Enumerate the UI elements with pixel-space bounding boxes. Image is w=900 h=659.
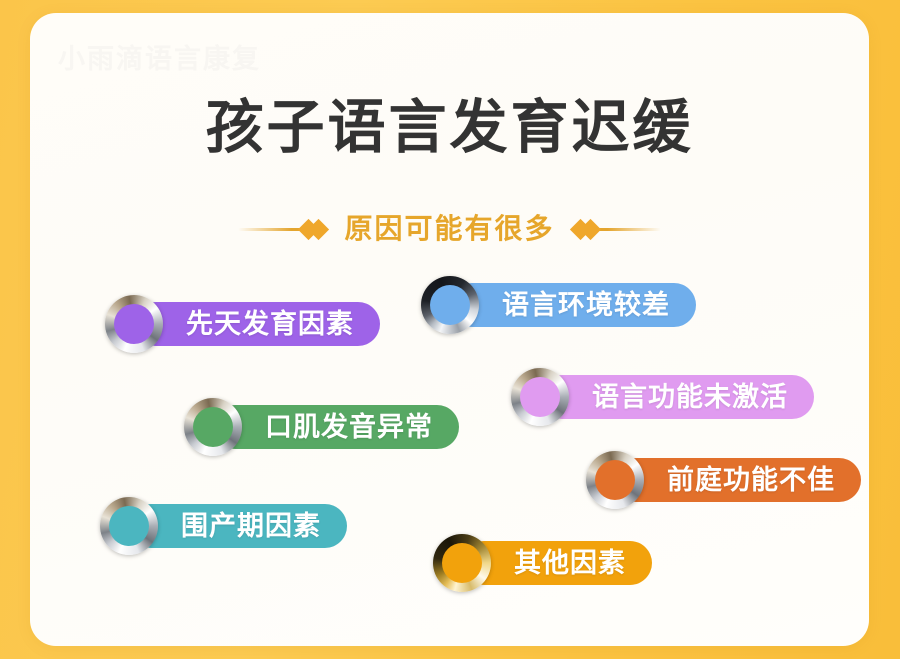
page-title: 孩子语言发育迟缓 — [30, 98, 869, 156]
reason-pill-language-not-activated[interactable]: 语言功能未激活 — [540, 375, 814, 419]
ring-icon — [95, 492, 163, 560]
watermark-text: 小雨滴语言康复 — [58, 39, 268, 81]
reason-label: 前庭功能不佳 — [667, 467, 835, 494]
ornament-line-right — [598, 228, 661, 231]
ornament-left-icon — [238, 216, 326, 242]
reason-pill-congenital[interactable]: 先天发育因素 — [134, 302, 380, 346]
subtitle-row: 原因可能有很多 — [30, 209, 869, 249]
info-card: 小雨滴语言康复 孩子语言发育迟缓 原因可能有很多 先天发育因素 语言环境较差 语… — [30, 13, 869, 646]
reason-label: 语言环境较差 — [502, 292, 670, 319]
reason-label: 语言功能未激活 — [592, 384, 788, 411]
reason-label: 先天发育因素 — [186, 311, 354, 338]
reason-pill-vestibular[interactable]: 前庭功能不佳 — [615, 458, 861, 502]
ring-icon — [100, 290, 168, 358]
reason-pill-language-environment[interactable]: 语言环境较差 — [450, 283, 696, 327]
reason-pill-oral-muscle[interactable]: 口肌发音异常 — [213, 405, 459, 449]
ornament-right-icon — [573, 216, 661, 242]
ring-icon — [506, 363, 574, 431]
ring-icon — [179, 393, 247, 461]
ring-icon — [581, 446, 649, 514]
reason-pill-other[interactable]: 其他因素 — [462, 541, 652, 585]
reason-label: 口肌发音异常 — [265, 414, 433, 441]
ornament-line-left — [238, 228, 301, 231]
reason-pill-perinatal[interactable]: 围产期因素 — [129, 504, 347, 548]
ring-icon — [416, 271, 484, 339]
reason-label: 其他因素 — [514, 550, 626, 577]
reason-label: 围产期因素 — [181, 513, 321, 540]
page-subtitle: 原因可能有很多 — [339, 215, 559, 243]
ring-icon — [428, 529, 496, 597]
